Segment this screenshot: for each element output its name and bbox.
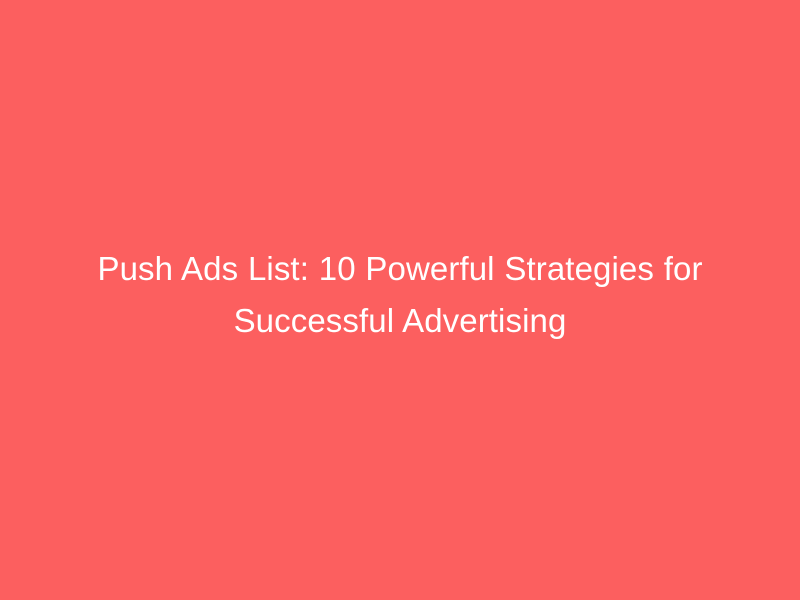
hero-banner: Push Ads List: 10 Powerful Strategies fo… (0, 0, 800, 600)
title-block: Push Ads List: 10 Powerful Strategies fo… (80, 243, 720, 347)
page-title: Push Ads List: 10 Powerful Strategies fo… (80, 243, 720, 347)
